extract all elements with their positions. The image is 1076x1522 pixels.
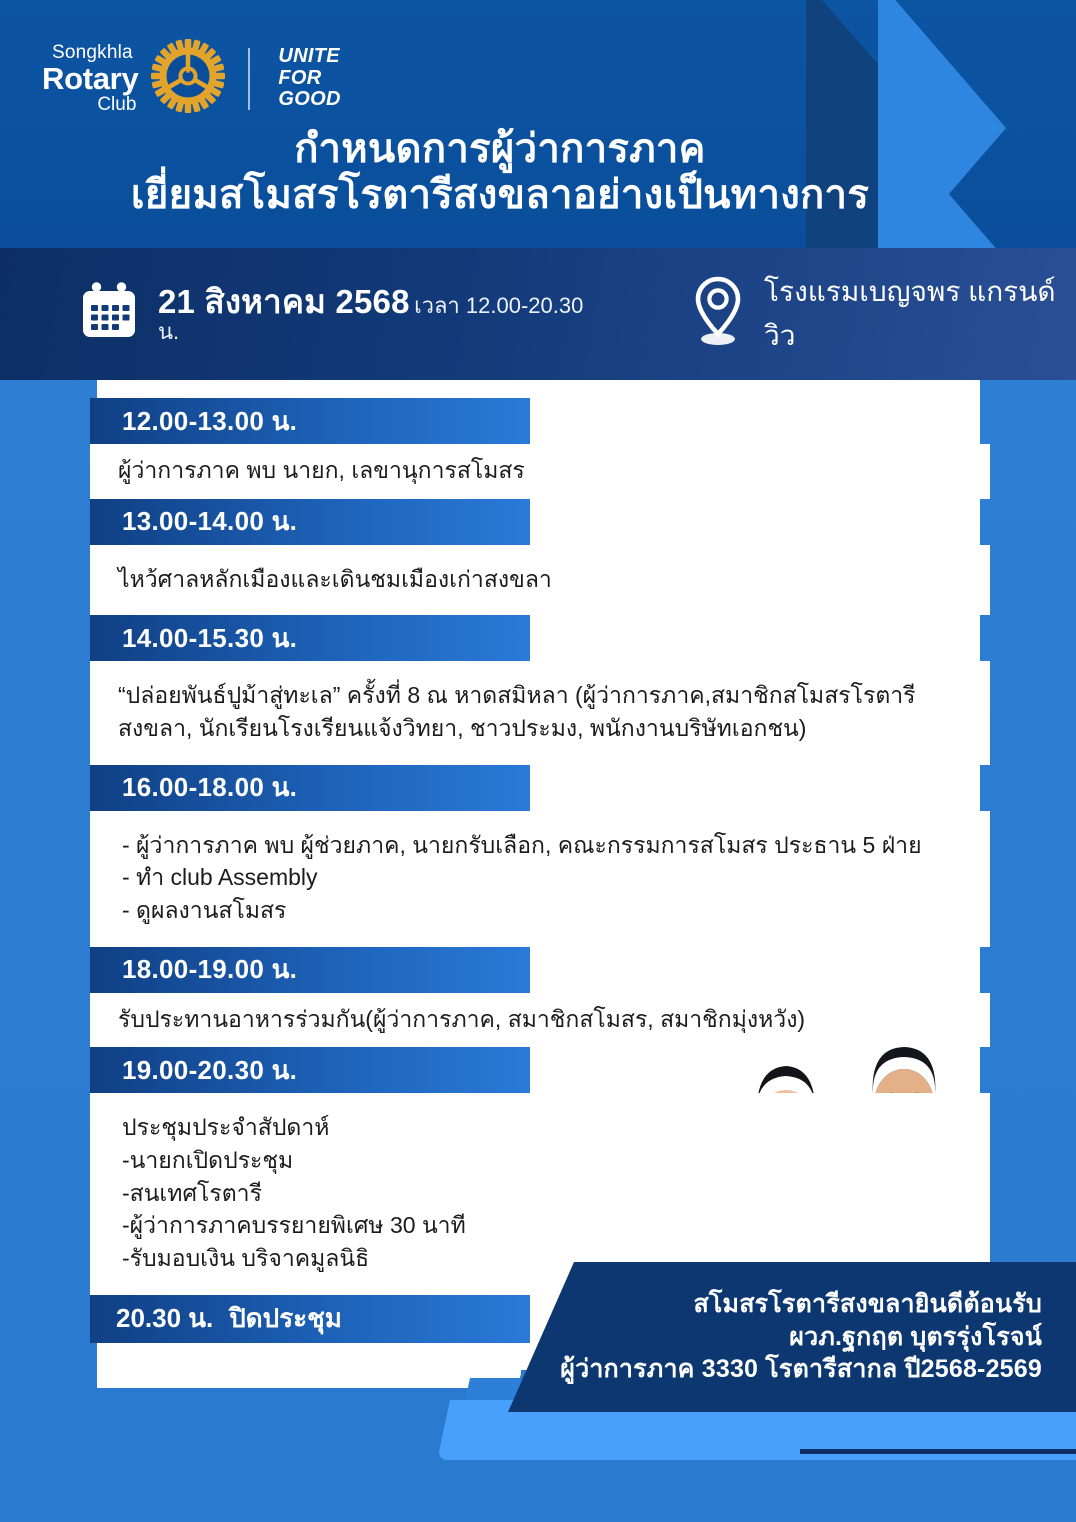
event-date: 21 สิงหาคม 2568 <box>158 283 410 320</box>
welcome-footer: สโมสรโรตารีสงขลายินดีต้อนรับ ผวภ.ฐกฤต บุ… <box>508 1262 1076 1412</box>
title-line-2: เยี่ยมสโมสรโรตารีสงขลาอย่างเป็นทางการ <box>0 172 1000 218</box>
schedule-item: 19.00-20.30 น. ประชุมประจำสัปดาห์ -นายกเ… <box>90 1047 990 1294</box>
logo-divider <box>248 48 250 110</box>
club-rotary-label: Rotary <box>42 63 138 94</box>
footer-line-3: ผู้ว่าการภาค 3330 โรตารีสากล ปี2568-2569 <box>560 1353 1042 1386</box>
panel-bottom-notch <box>97 1370 521 1388</box>
rotary-wheel-icon <box>150 38 226 119</box>
closing-bar: 20.30 น. ปิดประชุม <box>90 1295 530 1343</box>
closing-label: ปิดประชุม <box>229 1298 342 1339</box>
schedule-list: 12.00-13.00 น. ผู้ว่าการภาค พบ นายก, เลข… <box>90 398 990 1343</box>
schedule-description: - ผู้ว่าการภาค พบ ผู้ช่วยภาค, นายกรับเลื… <box>90 811 990 947</box>
description-line: สงขลา, นักเรียนโรงเรียนแจ้งวิทยา, ชาวประ… <box>118 712 972 745</box>
schedule-item: 12.00-13.00 น. ผู้ว่าการภาค พบ นายก, เลข… <box>90 398 990 499</box>
schedule-time: 14.00-15.30 น. <box>90 615 530 661</box>
unite-for-good-tagline: UNITE FOR GOOD <box>278 46 340 111</box>
closing-time: 20.30 น. <box>116 1298 213 1339</box>
schedule-time: 18.00-19.00 น. <box>90 947 530 993</box>
description-line: -ผู้ว่าการภาคบรรยายพิเศษ 30 นาที <box>122 1209 972 1242</box>
description-line: ไหว้ศาลหลักเมืองและเดินชมเมืองเก่าสงขลา <box>118 563 972 596</box>
description-line: ประชุมประจำสัปดาห์ <box>122 1111 972 1144</box>
poster-header: Songkhla Rotary Club <box>0 0 1076 248</box>
description-line: - ดูผลงานสโมสร <box>122 894 972 927</box>
tagline-line-3: GOOD <box>278 89 340 111</box>
description-line: “ปล่อยพันธ์ปูม้าสู่ทะเล” ครั้งที่ 8 ณ หา… <box>118 679 972 712</box>
schedule-time: 13.00-14.00 น. <box>90 499 530 545</box>
schedule-item: 14.00-15.30 น. “ปล่อยพันธ์ปูม้าสู่ทะเล” … <box>90 615 990 764</box>
schedule-time: 16.00-18.00 น. <box>90 765 530 811</box>
date-text-group: 21 สิงหาคม 2568 เวลา 12.00-20.30 น. <box>158 285 596 344</box>
description-line: -นายกเปิดประชุม <box>122 1144 972 1177</box>
schedule-time: 19.00-20.30 น. <box>90 1047 530 1093</box>
calendar-icon <box>78 281 140 348</box>
schedule-item: 13.00-14.00 น. ไหว้ศาลหลักเมืองและเดินชม… <box>90 499 990 616</box>
decorative-rule <box>800 1449 1076 1454</box>
tagline-line-2: FOR <box>278 68 340 90</box>
schedule-item: 16.00-18.00 น. - ผู้ว่าการภาค พบ ผู้ช่วย… <box>90 765 990 947</box>
description-line: ผู้ว่าการภาค พบ นายก, เลขานุการสโมสร <box>118 454 972 487</box>
description-line: รับประทานอาหารร่วมกัน(ผู้ว่าการภาค, สมาช… <box>118 1003 972 1036</box>
schedule-description: รับประทานอาหารร่วมกัน(ผู้ว่าการภาค, สมาช… <box>90 993 990 1048</box>
title-line-1: กำหนดการผู้ว่าการภาค <box>0 126 1000 172</box>
club-club-label: Club <box>42 95 136 114</box>
event-info-band: 21 สิงหาคม 2568 เวลา 12.00-20.30 น. โรงแ… <box>0 248 1076 380</box>
location-pin-icon <box>688 275 748 354</box>
event-venue-block: โรงแรมเบญจพร แกรนด์วิว <box>688 270 1076 358</box>
schedule-time: 12.00-13.00 น. <box>90 398 530 444</box>
description-line: - ทำ club Assembly <box>122 861 972 894</box>
schedule-description: ไหว้ศาลหลักเมืองและเดินชมเมืองเก่าสงขลา <box>90 545 990 616</box>
event-venue: โรงแรมเบญจพร แกรนด์วิว <box>764 270 1076 358</box>
footer-line-2: ผวภ.ฐกฤต บุตรรุ่งโรจน์ <box>789 1321 1042 1354</box>
description-line: -สนเทศโรตารี <box>122 1177 972 1210</box>
description-line: - ผู้ว่าการภาค พบ ผู้ช่วยภาค, นายกรับเลื… <box>122 829 972 862</box>
rotary-club-logo: Songkhla Rotary Club <box>42 38 341 119</box>
schedule-item: 18.00-19.00 น. รับประทานอาหารร่วมกัน(ผู้… <box>90 947 990 1048</box>
poster-root: Songkhla Rotary Club <box>0 0 1076 1522</box>
page-title: กำหนดการผู้ว่าการภาค เยี่ยมสโมสรโรตารีสง… <box>0 126 1000 219</box>
club-wordmark: Songkhla Rotary Club <box>42 43 138 114</box>
event-date-block: 21 สิงหาคม 2568 เวลา 12.00-20.30 น. <box>78 281 596 348</box>
club-city-label: Songkhla <box>52 43 138 62</box>
tagline-line-1: UNITE <box>278 46 340 68</box>
schedule-description: “ปล่อยพันธ์ปูม้าสู่ทะเล” ครั้งที่ 8 ณ หา… <box>90 661 990 764</box>
footer-line-1: สโมสรโรตารีสงขลายินดีต้อนรับ <box>693 1288 1042 1321</box>
schedule-description: ผู้ว่าการภาค พบ นายก, เลขานุการสโมสร <box>90 444 990 499</box>
